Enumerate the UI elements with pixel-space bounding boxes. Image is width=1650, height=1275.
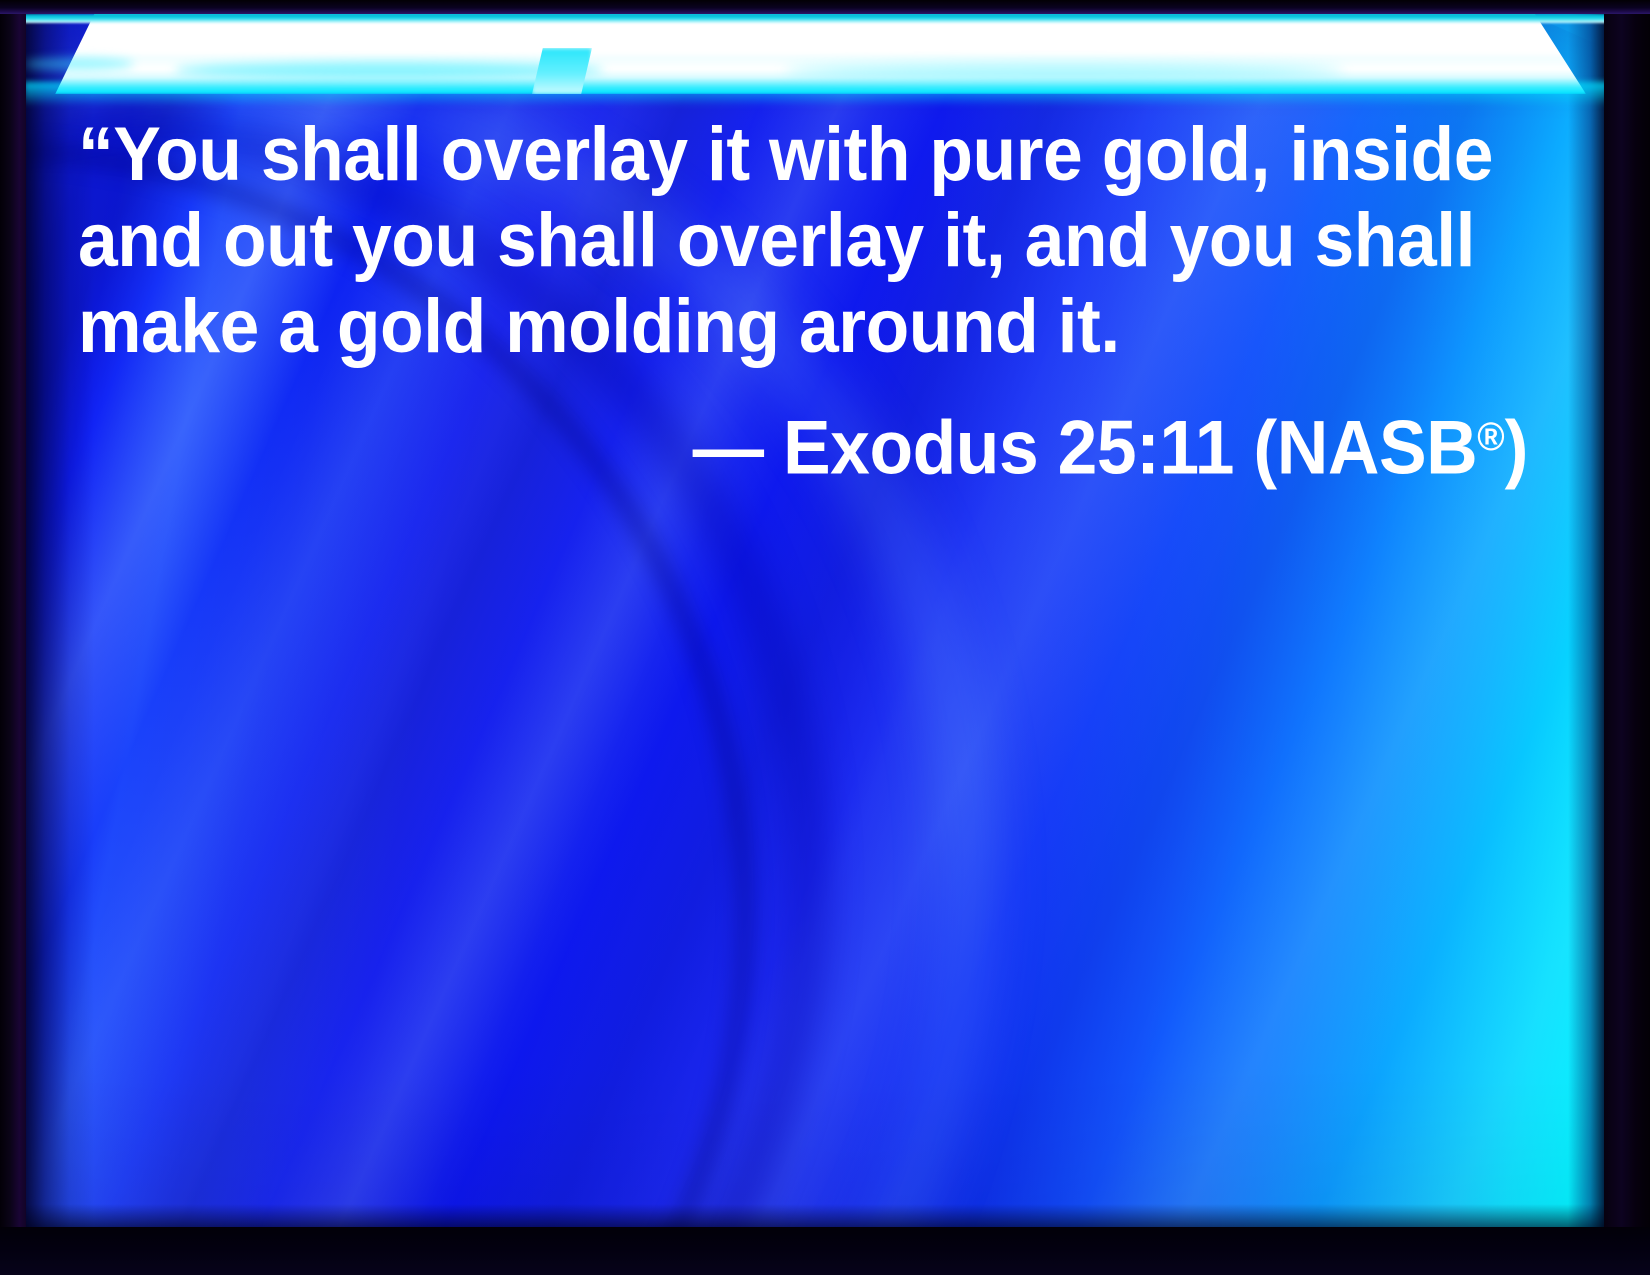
attribution-reference: Exodus 25:11	[783, 406, 1234, 491]
frame-border-right	[1604, 0, 1650, 1275]
attribution-translation: NASB	[1277, 406, 1478, 491]
verse-line-3: make a gold molding around it.	[78, 284, 1441, 370]
verse-slide: “You shall overlay it with pure gold, in…	[0, 0, 1650, 1275]
attribution-close-paren: )	[1505, 406, 1528, 491]
verse-line-2: and out you shall overlay it, and you sh…	[78, 198, 1441, 284]
attribution-spacer	[764, 406, 783, 491]
registered-trademark-icon: ®	[1477, 415, 1504, 459]
verse-text-block: “You shall overlay it with pure gold, in…	[78, 112, 1528, 492]
attribution-spacer-2	[1234, 406, 1253, 491]
verse-attribution: — Exodus 25:11 (NASB®)	[165, 394, 1528, 492]
frame-border-bottom	[0, 1227, 1650, 1275]
frame-border-top	[0, 0, 1650, 14]
attribution-dash: —	[693, 406, 764, 491]
verse-line-1: “You shall overlay it with pure gold, in…	[78, 112, 1441, 198]
frame-border-left	[0, 0, 26, 1275]
attribution-open-paren: (	[1253, 406, 1276, 491]
